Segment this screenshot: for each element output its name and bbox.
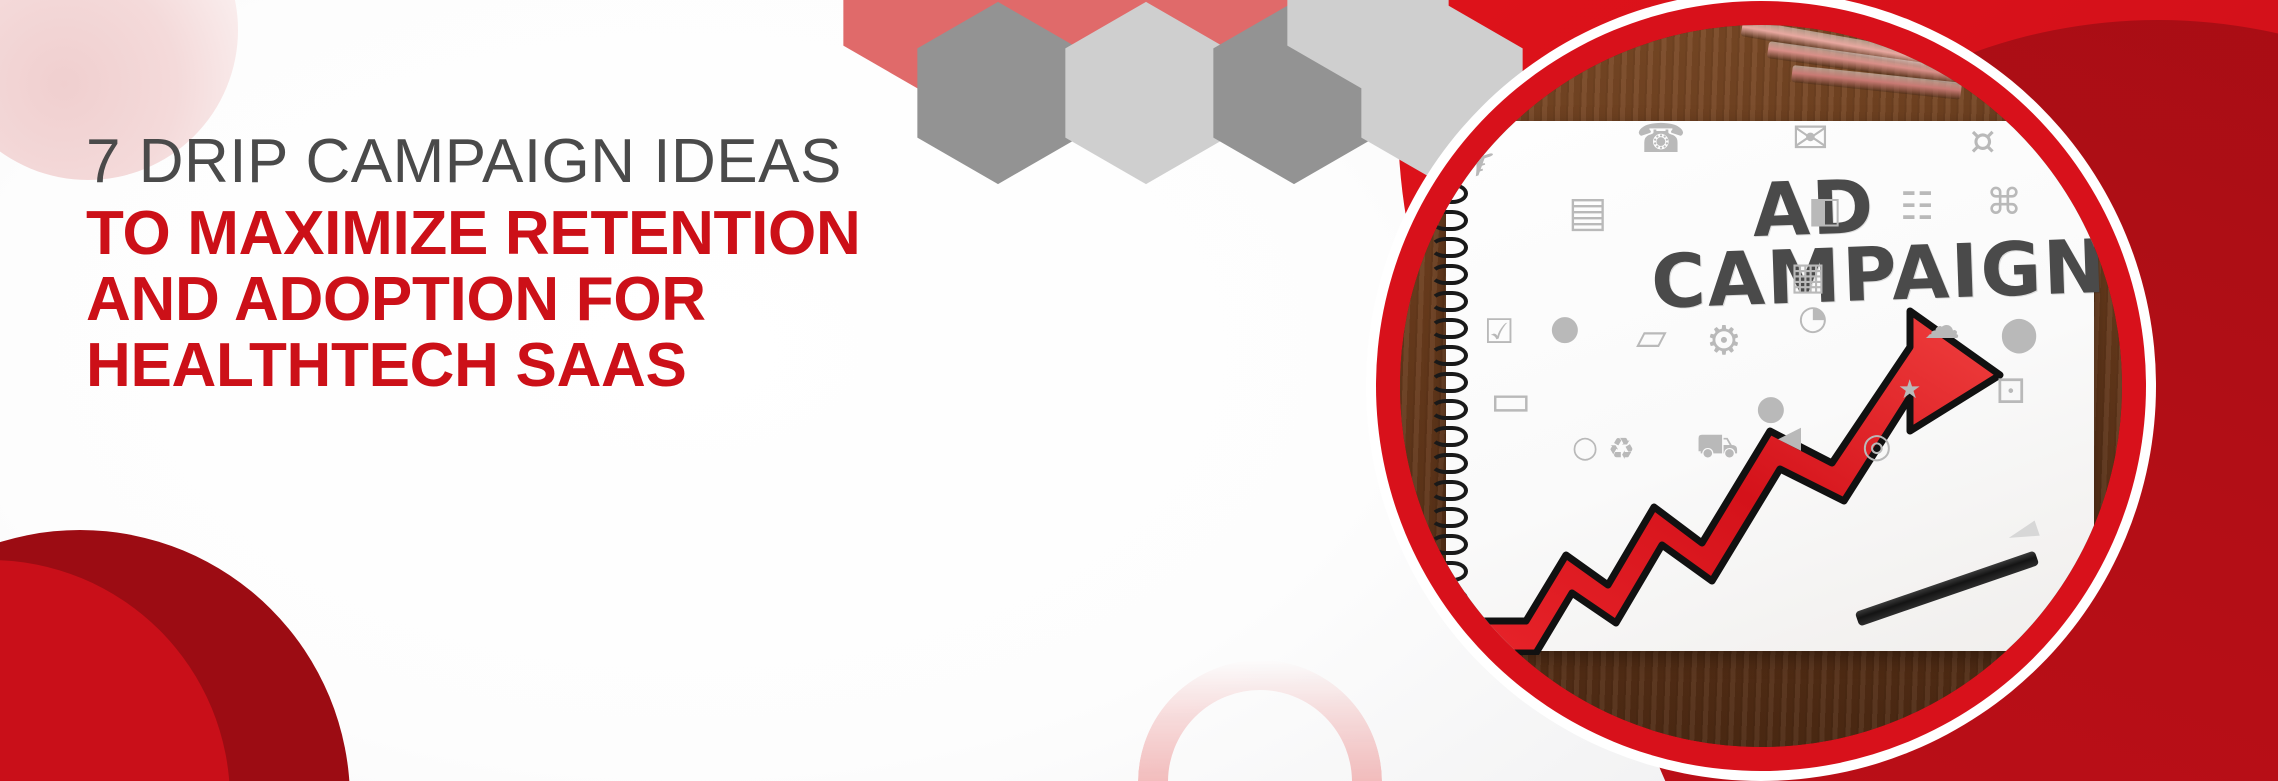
gear-doodle: ⚙	[1706, 321, 1742, 361]
cart-doodle: ⛟	[1696, 429, 1739, 463]
globe-doodle: ⬤	[2000, 317, 2038, 351]
headline-block: 7 DRIP CAMPAIGN IDEAS TO MAXIMIZE RETENT…	[86, 130, 966, 398]
target-doodle: ◎	[1862, 429, 1892, 463]
headset-doodle: ☎	[1636, 119, 1686, 159]
clock-doodle: ◔	[1798, 301, 1828, 335]
pink-ring-bottom-center	[1138, 660, 1382, 781]
presentation-doodle: ▤	[1568, 191, 1608, 233]
stamp-doodle: ☑	[1484, 315, 1514, 349]
monitor-doodle: ▭	[1490, 379, 1532, 423]
lightbulb-doodle: ○	[1572, 433, 1598, 463]
headline-line-3: AND ADOPTION FOR	[86, 267, 966, 333]
money-bag-doodle: ¤	[1970, 121, 1995, 161]
headline-line-4: HEALTHTECH SAAS	[86, 333, 966, 399]
envelope-doodle: ✉	[1792, 117, 1829, 161]
speaker-doodle: ◀	[1778, 423, 1801, 453]
cloud-doodle: ☁	[1924, 309, 1960, 345]
spiral-coil	[1430, 210, 1468, 231]
folder-doodle: ▱	[1636, 317, 1667, 357]
stars-rating-doodle: ★	[1898, 377, 1921, 403]
headline-line-1: 7 DRIP CAMPAIGN IDEAS	[86, 130, 966, 193]
headline-line-2: TO MAXIMIZE RETENTION	[86, 201, 966, 267]
bar-chart-doodle: ◧	[1808, 193, 1842, 229]
chat-bubble-doodle: ●	[1550, 311, 1580, 345]
gift-doodle: ⌘	[1986, 185, 2022, 221]
spiral-coil	[1430, 183, 1468, 204]
blog-hero-banner: AD CAMPAIGN ✈☎✉¤▤◧☷⌘☑●▱▦◔⚙☁⬤▭★●⚀○♻⛟◀◎ 7…	[0, 0, 2278, 781]
recycle-doodle: ♻	[1608, 435, 1635, 465]
headline-emphasis: TO MAXIMIZE RETENTION AND ADOPTION FOR H…	[86, 201, 966, 398]
calendar-doodle: ▦	[1790, 257, 1826, 295]
hero-photo: AD CAMPAIGN ✈☎✉¤▤◧☷⌘☑●▱▦◔⚙☁⬤▭★●⚀○♻⛟◀◎	[1400, 25, 2122, 747]
clipboard-doodle: ☷	[1900, 187, 1934, 225]
dice-doodle: ⚀	[1996, 375, 2026, 409]
